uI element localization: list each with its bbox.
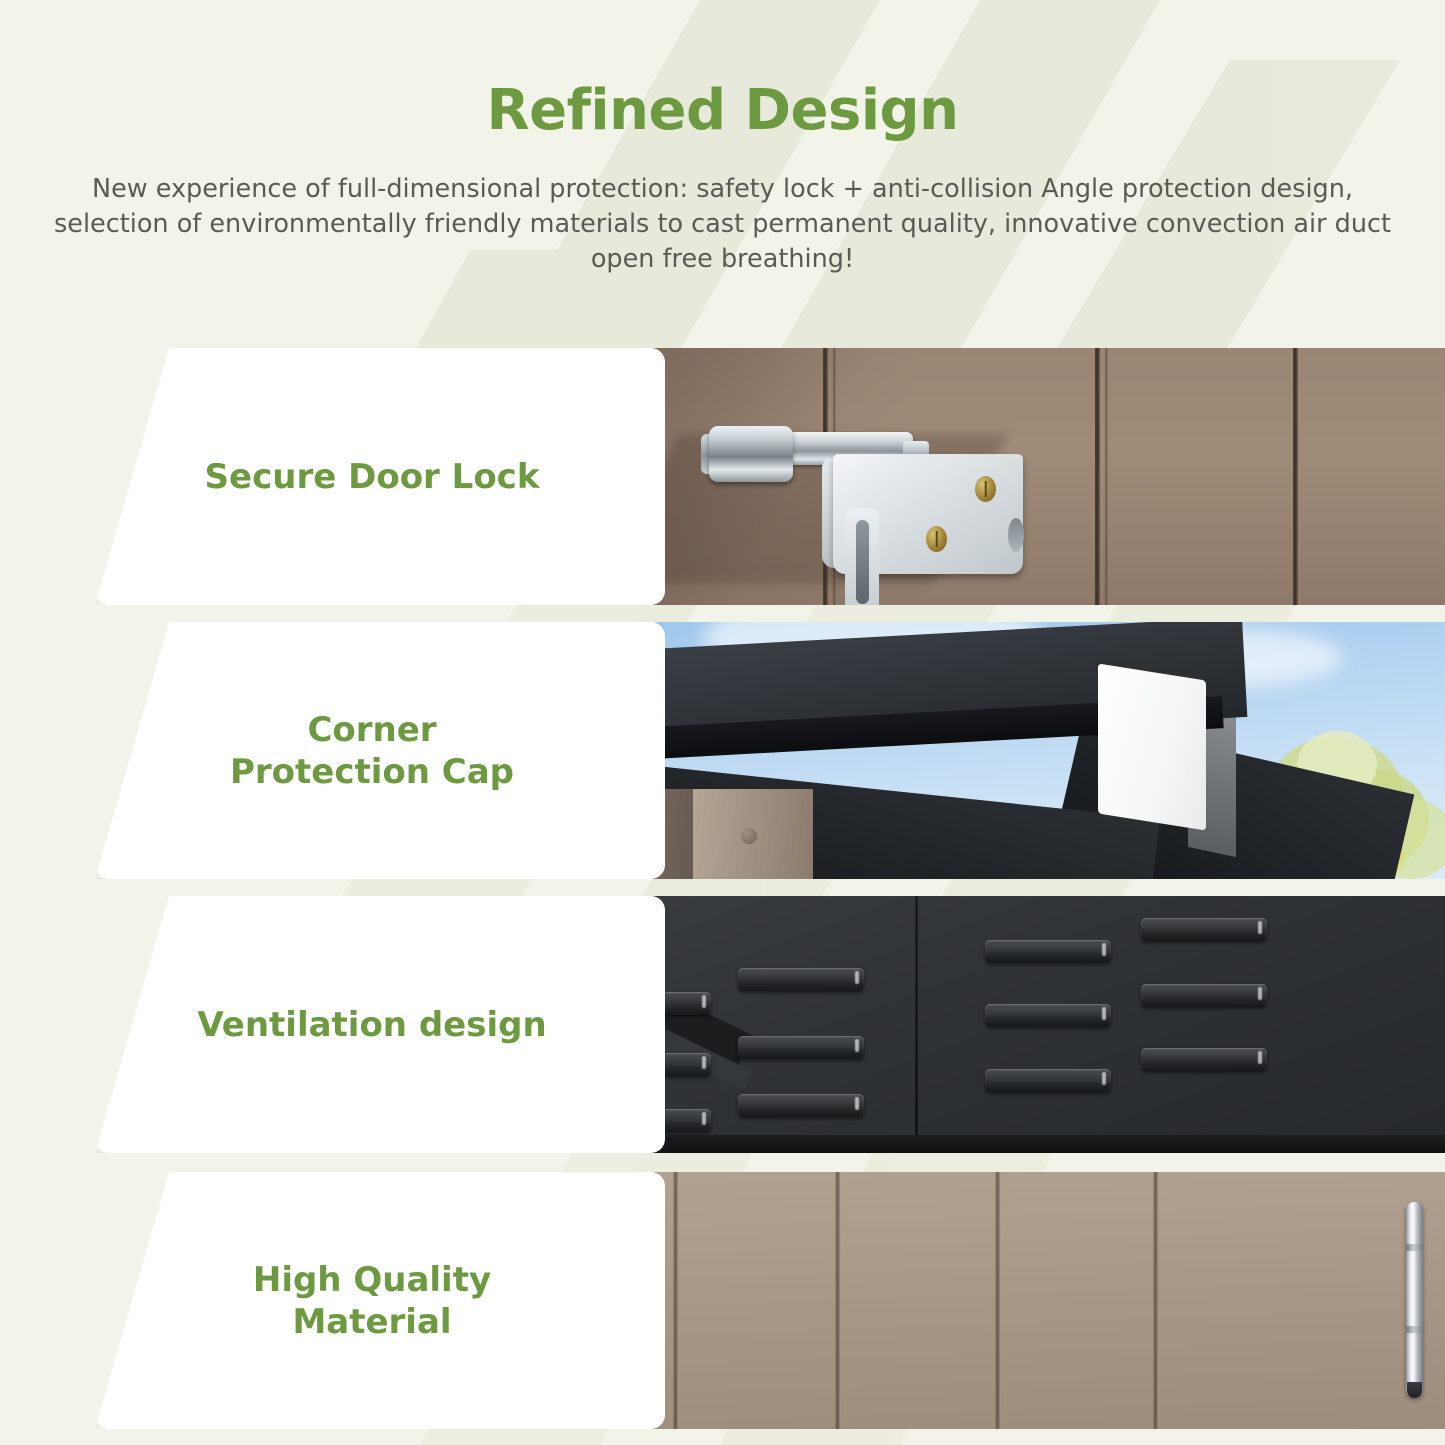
feature-label: Ventilation design	[95, 1004, 665, 1046]
door-seam-icon	[1293, 348, 1298, 605]
louver-vent-icon	[738, 968, 864, 991]
door-seam-icon	[1095, 348, 1100, 605]
panel-rib-icon	[1153, 1172, 1159, 1429]
hinge-cap-icon	[1407, 1382, 1422, 1398]
louver-vent-icon	[985, 1004, 1111, 1027]
panel-rib-icon	[835, 1172, 841, 1429]
panel-rib-icon	[673, 1172, 679, 1429]
feature-label: Corner Protection Cap	[95, 709, 665, 793]
hinge-icon	[1406, 1202, 1423, 1398]
hinge-pin-icon	[1406, 1244, 1423, 1251]
feature-label: High Quality Material	[95, 1259, 665, 1343]
panel-seam-icon	[915, 896, 918, 1153]
corner-protection-cap-icon	[1098, 663, 1206, 830]
feature-label-panel[interactable]: Ventilation design	[95, 896, 665, 1153]
feature-label-panel[interactable]: Corner Protection Cap	[95, 622, 665, 879]
feature-label-panel[interactable]: Secure Door Lock	[95, 348, 665, 605]
screw-icon	[975, 476, 996, 502]
panel-rib-icon	[995, 1172, 1001, 1429]
feature-row-corner-protection-cap: Corner Protection Cap	[0, 622, 1445, 879]
padlock-slot-icon	[856, 520, 869, 604]
feature-row-ventilation-design: Ventilation design	[0, 896, 1445, 1153]
screw-icon	[741, 828, 757, 844]
feature-row-high-quality-material: High Quality Material	[0, 1172, 1445, 1429]
latch-hole-icon	[1008, 518, 1024, 552]
louver-vent-icon	[985, 1069, 1111, 1092]
louver-vent-icon	[1141, 918, 1267, 941]
header: Refined Design New experience of full-di…	[0, 0, 1445, 340]
feature-row-secure-door-lock: Secure Door Lock	[0, 348, 1445, 605]
louver-vent-icon	[738, 1036, 864, 1059]
page-subtitle: New experience of full-dimensional prote…	[53, 172, 1393, 277]
feature-label-panel[interactable]: High Quality Material	[95, 1172, 665, 1429]
bolt-knob-icon	[709, 426, 793, 482]
screw-icon	[926, 526, 947, 552]
door-seam-icon	[1105, 348, 1108, 605]
page-title: Refined Design	[0, 78, 1445, 143]
louver-vent-icon	[738, 1094, 864, 1117]
hinge-pin-icon	[1406, 1326, 1423, 1333]
louver-vent-icon	[1141, 1048, 1267, 1071]
louver-vent-icon	[985, 940, 1111, 963]
feature-label: Secure Door Lock	[95, 456, 665, 498]
louver-vent-icon	[1141, 984, 1267, 1007]
